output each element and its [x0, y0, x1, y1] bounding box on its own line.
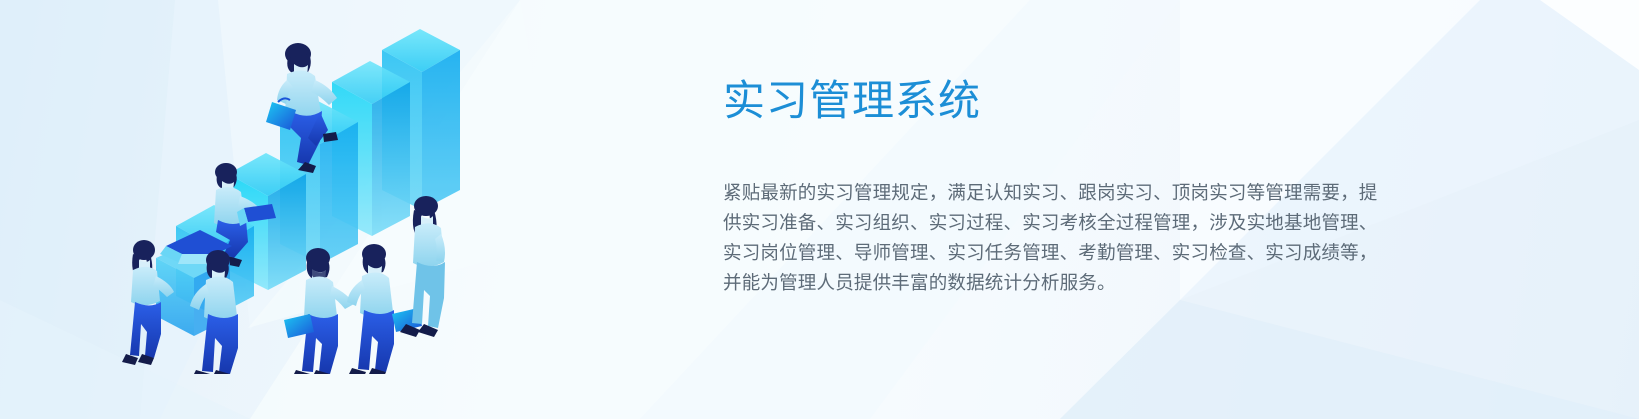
description-line: 并能为管理人员提供丰富的数据统计分析服务。 [723, 268, 1395, 298]
description-line: 紧贴最新的实习管理规定，满足认知实习、跟岗实习、顶岗实习等管理需要，提 [723, 178, 1395, 208]
description-line: 实习岗位管理、导师管理、实习任务管理、考勤管理、实习检查、实习成绩等， [723, 238, 1395, 268]
description-line: 供实习准备、实习组织、实习过程、实习考核全过程管理，涉及实地基地管理、 [723, 208, 1395, 238]
page-description: 紧贴最新的实习管理规定，满足认知实习、跟岗实习、顶岗实习等管理需要，提 供实习准… [723, 130, 1395, 298]
page-title: 实习管理系统 [723, 72, 1413, 130]
person-man-right [347, 244, 422, 374]
hero-copy: 实习管理系统 紧贴最新的实习管理规定，满足认知实习、跟岗实习、顶岗实习等管理需要… [723, 72, 1413, 298]
hero-banner: 实习管理系统 紧贴最新的实习管理规定，满足认知实习、跟岗实习、顶岗实习等管理需要… [0, 0, 1639, 419]
growth-chart-illustration [120, 14, 540, 374]
